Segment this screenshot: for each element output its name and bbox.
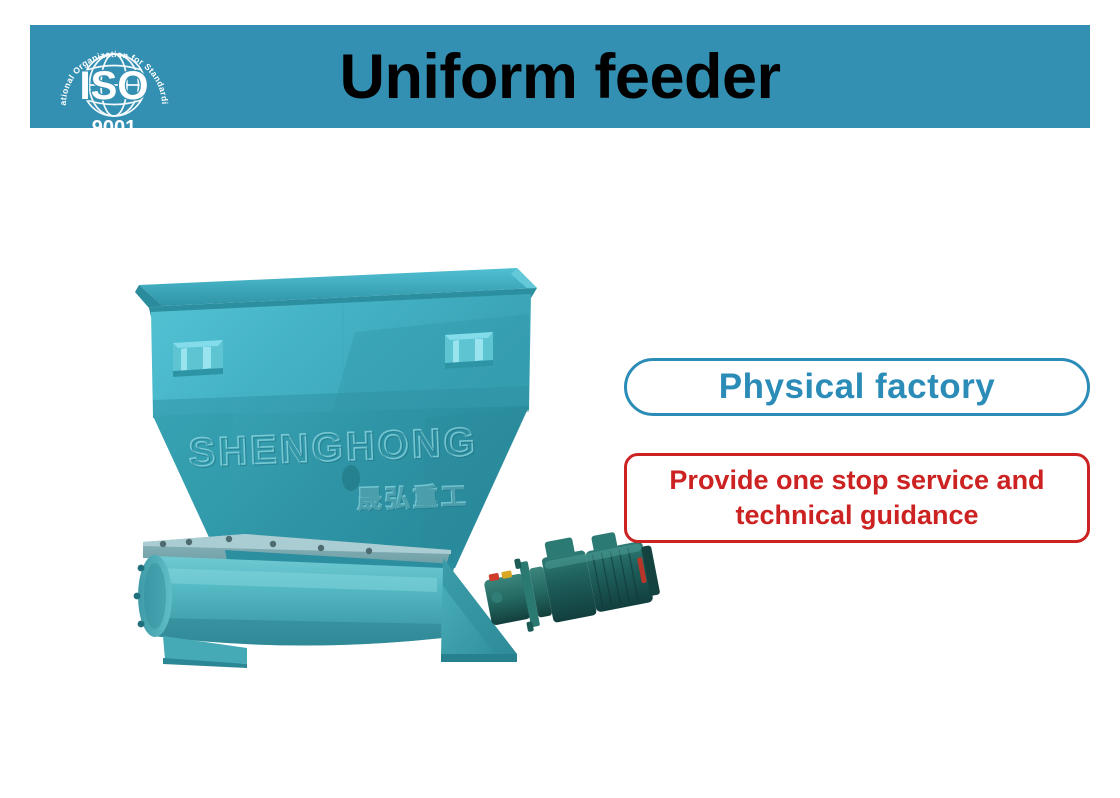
physical-factory-label: Physical factory [719, 367, 995, 407]
physical-factory-callout: Physical factory [624, 358, 1090, 416]
slide-canvas: International Organization for Standardi… [0, 0, 1120, 798]
header-banner: International Organization for Standardi… [30, 25, 1090, 128]
svg-text:晟弘重工: 晟弘重工 [357, 482, 470, 515]
service-callout: Provide one stop service and technical g… [624, 453, 1090, 543]
service-label-line2: technical guidance [735, 498, 978, 533]
service-label-line1: Provide one stop service and [669, 463, 1044, 498]
uniform-screw-feeder-machine-photo: SHENGHONG SHENGHONG 晟弘重工 晟弘重工 [125, 250, 685, 670]
page-title: Uniform feeder [30, 25, 1090, 128]
